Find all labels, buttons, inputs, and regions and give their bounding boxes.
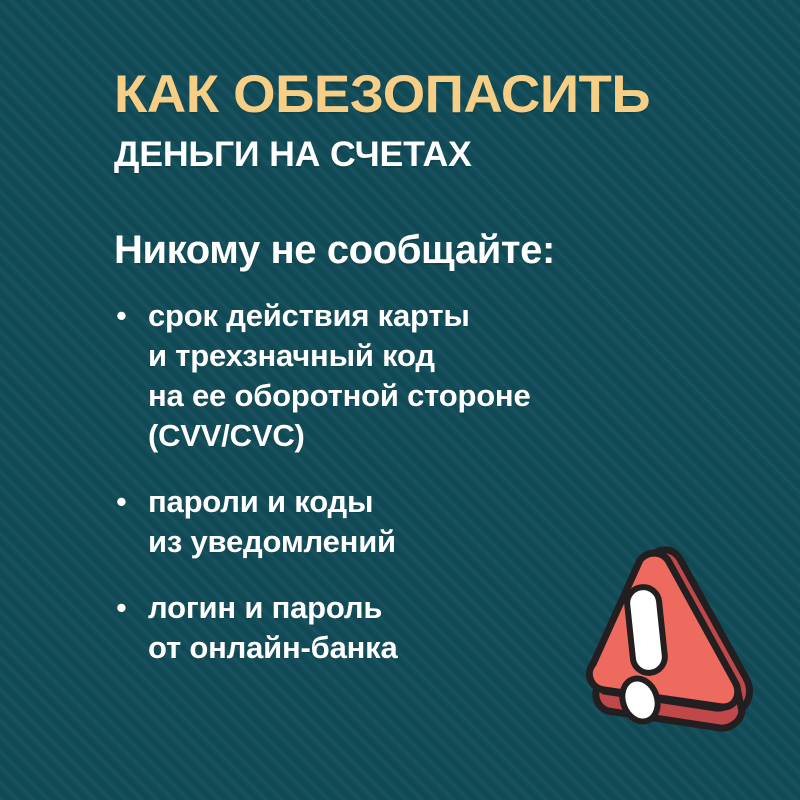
heading-block: КАК ОБЕЗОПАСИТЬ ДЕНЬГИ НА СЧЕТАХ — [114, 68, 754, 172]
warning-triangle-icon — [570, 532, 760, 757]
page-subtitle: ДЕНЬГИ НА СЧЕТАХ — [114, 137, 767, 172]
list-item-text: срок действия карты и трехзначный код на… — [148, 296, 672, 456]
poster-content: КАК ОБЕЗОПАСИТЬ ДЕНЬГИ НА СЧЕТАХ Никому … — [0, 0, 800, 800]
list-item-line: и трехзначный код — [148, 336, 672, 376]
page-title: КАК ОБЕЗОПАСИТЬ — [114, 68, 773, 121]
list-item-line: пароли и коды — [148, 482, 672, 522]
bullet-dot-icon: • — [112, 296, 148, 336]
list-item-line: срок действия карты — [148, 296, 672, 336]
list-item-line: (CVV/CVC) — [148, 416, 672, 456]
list-item: • срок действия карты и трехзначный код … — [112, 296, 672, 456]
exclamation-bar-icon — [626, 586, 667, 675]
bullet-dot-icon: • — [112, 588, 148, 628]
bullet-dot-icon: • — [112, 482, 148, 522]
lead-in-text: Никому не сообщайте: — [114, 230, 555, 270]
list-item-line: на ее оборотной стороне — [148, 376, 672, 416]
poster-canvas: КАК ОБЕЗОПАСИТЬ ДЕНЬГИ НА СЧЕТАХ Никому … — [0, 0, 800, 800]
